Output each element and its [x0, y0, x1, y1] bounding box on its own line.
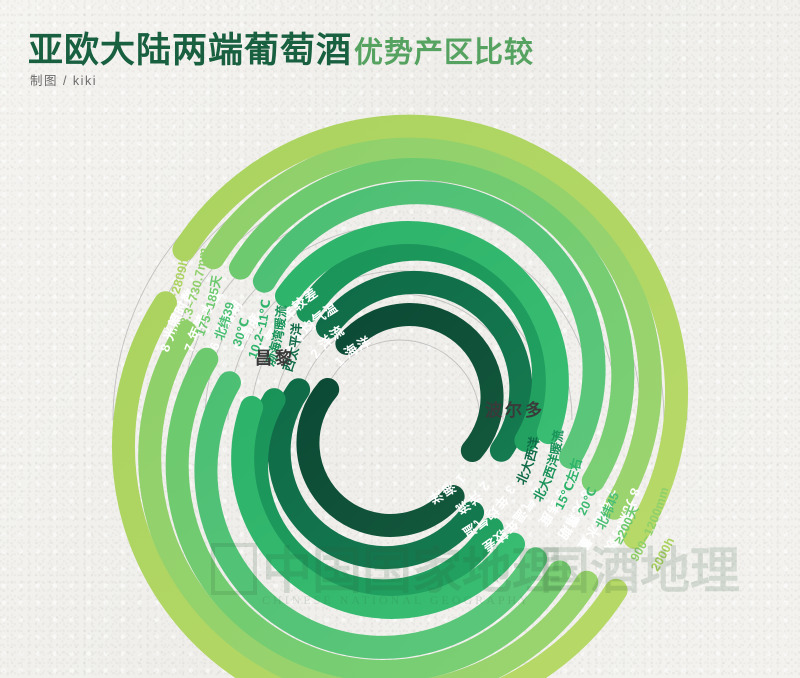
byline-credit: 制图 / kiki	[30, 70, 97, 89]
city-label-bordeaux: 波尔多	[485, 400, 545, 420]
page-title: 亚欧大陆两端葡萄酒优势产区比较	[28, 22, 534, 73]
right-value-8: 2000h	[648, 535, 677, 574]
title-main-text: 亚欧大陆两端葡萄酒	[28, 31, 352, 70]
arc-band-1-haiyang-lower[interactable]	[308, 389, 453, 525]
city-label-changli: 昌黎	[255, 348, 295, 368]
spiral-comparison-chart: 1 海洋 2 洋流 3 年均气温 4 气温年较差 5 纬度 6 无霜期 7 年降…	[0, 0, 800, 678]
right-value-8-text: 2000h	[648, 535, 677, 574]
title-subtitle-text: 优势产区比较	[354, 37, 534, 69]
